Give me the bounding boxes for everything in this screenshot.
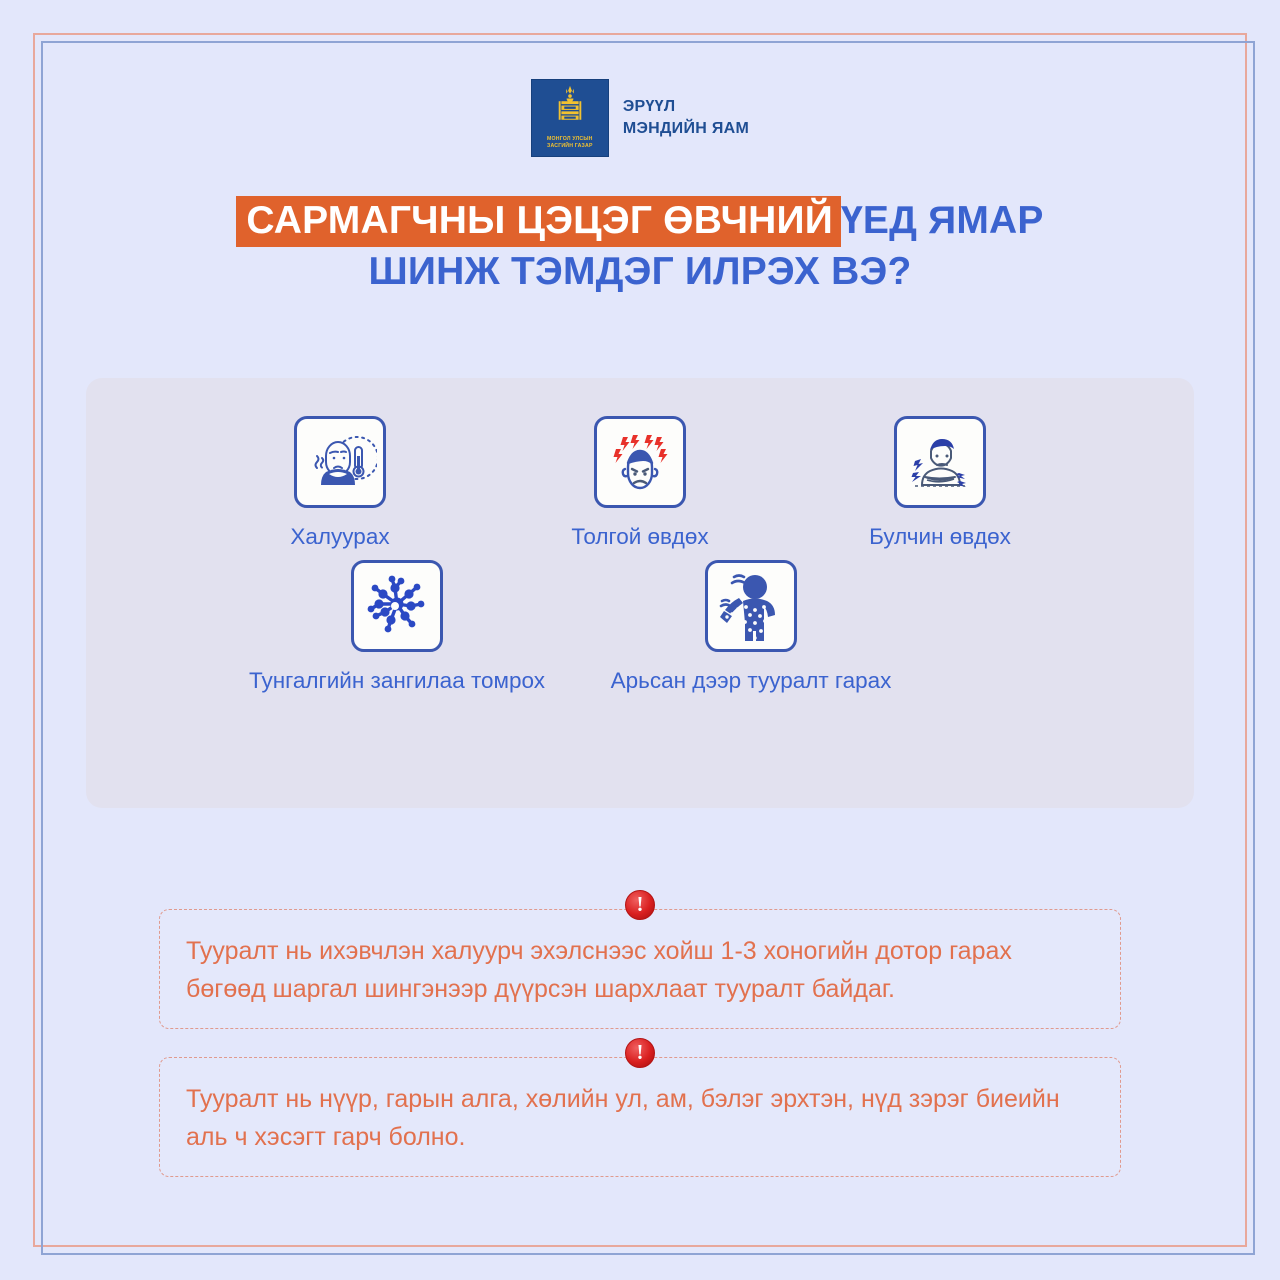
symptoms-row-2: Тунгалгийн зангилаа томрох: [86, 552, 1194, 696]
symptoms-panel: Халуурах: [86, 378, 1194, 808]
fever-thermometer-icon: [303, 423, 377, 502]
note-text: Тууралт нь нүүр, гарын алга, хөлийн ул, …: [186, 1080, 1094, 1156]
note-box-1: ! Тууралт нь ихэвчлэн халуурч эхэлснээс …: [159, 909, 1121, 1029]
ministry-line1: ЭРҮҮЛ: [623, 96, 749, 118]
symptom-label: Булчин өвдөх: [869, 522, 1011, 552]
symptom-fever: Халуурах: [190, 416, 490, 552]
skin-rash-icon: [714, 567, 788, 646]
ministry-name: ЭРҮҮЛ МЭНДИЙН ЯАМ: [623, 96, 749, 139]
symptom-label: Арьсан дээр тууралт гарах: [611, 666, 892, 696]
page-title: САРМАГЧНЫ ЦЭЦЭГ ӨВЧНИЙҮЕД ЯМАР ШИНЖ ТЭМД…: [41, 195, 1239, 298]
lymph-node-tile: [351, 560, 443, 652]
symptom-label: Толгой өвдөх: [571, 522, 708, 552]
title-line1-rest: ҮЕД ЯМАР: [841, 199, 1044, 242]
symptoms-row-1: Халуурах: [86, 378, 1194, 552]
alert-exclamation-icon: !: [625, 890, 655, 920]
title-line-1: САРМАГЧНЫ ЦЭЦЭГ ӨВЧНИЙҮЕД ЯМАР: [41, 195, 1239, 246]
skin-rash-tile: [705, 560, 797, 652]
notes-section: ! Тууралт нь ихэвчлэн халуурч эхэлснээс …: [159, 909, 1121, 1205]
ministry-line2: МЭНДИЙН ЯАМ: [623, 118, 749, 140]
title-line-2: ШИНЖ ТЭМДЭГ ИЛРЭХ ВЭ?: [41, 246, 1239, 297]
symptom-muscle-pain: Булчин өвдөх: [790, 416, 1090, 552]
soyombo-icon: [555, 84, 585, 128]
symptom-label: Тунгалгийн зангилаа томрох: [249, 666, 545, 696]
note-text: Тууралт нь ихэвчлэн халуурч эхэлснээс хо…: [186, 932, 1094, 1008]
header: МОНГОЛ УЛСЫН ЗАСГИЙН ГАЗАР ЭРҮҮЛ МЭНДИЙН…: [41, 41, 1239, 157]
alert-exclamation-icon: !: [625, 1038, 655, 1068]
note-box-2: ! Тууралт нь нүүр, гарын алга, хөлийн ул…: [159, 1057, 1121, 1177]
symptom-headache: Толгой өвдөх: [490, 416, 790, 552]
title-highlight: САРМАГЧНЫ ЦЭЦЭГ ӨВЧНИЙ: [236, 196, 841, 247]
symptom-skin-rash: Арьсан дээр тууралт гарах: [601, 560, 901, 696]
fever-tile: [294, 416, 386, 508]
symptom-label: Халуурах: [290, 522, 389, 552]
poster-content: МОНГОЛ УЛСЫН ЗАСГИЙН ГАЗАР ЭРҮҮЛ МЭНДИЙН…: [41, 41, 1239, 1239]
headache-lightning-icon: [603, 423, 677, 502]
muscle-pain-icon: [903, 423, 977, 502]
headache-tile: [594, 416, 686, 508]
lymph-node-icon: [361, 568, 433, 645]
muscle-pain-tile: [894, 416, 986, 508]
mongolia-government-emblem: МОНГОЛ УЛСЫН ЗАСГИЙН ГАЗАР: [531, 79, 609, 157]
emblem-caption: МОНГОЛ УЛСЫН ЗАСГИЙН ГАЗАР: [532, 136, 608, 151]
emblem-caption-line2: ЗАСГИЙН ГАЗАР: [532, 143, 608, 151]
symptom-swollen-lymph-nodes: Тунгалгийн зангилаа томрох: [247, 560, 547, 696]
